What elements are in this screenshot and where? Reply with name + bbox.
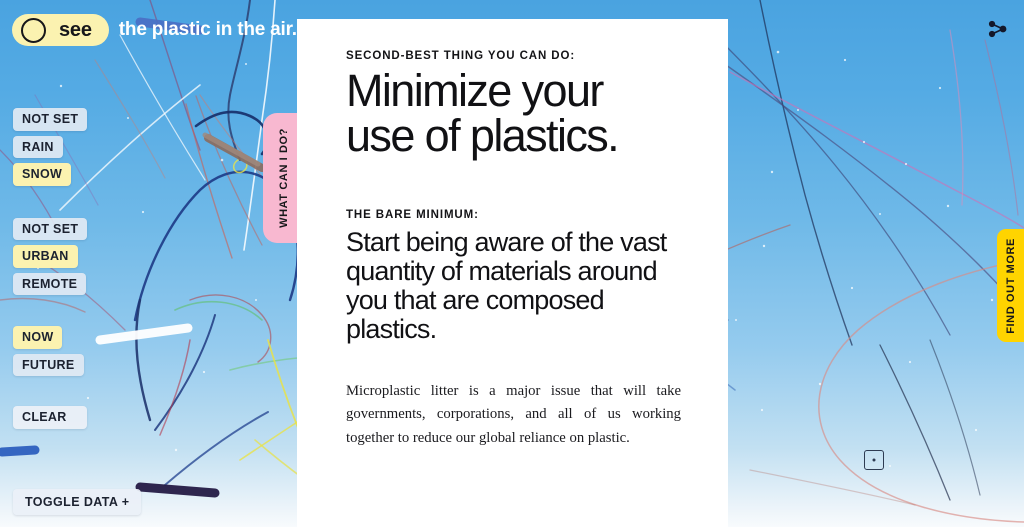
card-headline: Minimize your use of plastics. <box>346 69 681 158</box>
map-point-marker-icon[interactable] <box>864 450 884 470</box>
filter-location-urban[interactable]: URBAN <box>13 245 78 268</box>
group-spacer <box>13 300 87 326</box>
filter-location-remote[interactable]: REMOTE <box>13 273 86 296</box>
circle-outline-icon <box>21 18 46 43</box>
visualization-app: see the plastic in the air. NOT SET RAIN… <box>0 0 1024 527</box>
weather-filter-group: NOT SET RAIN SNOW <box>13 108 87 191</box>
find-out-more-tab[interactable]: FIND OUT MORE <box>997 229 1024 342</box>
control-panel: NOT SET RAIN SNOW NOT SET URBAN REMOTE N… <box>13 108 87 434</box>
tagline: the plastic in the air. <box>119 19 297 41</box>
filter-weather-not-set[interactable]: NOT SET <box>13 108 87 131</box>
filter-time-now[interactable]: NOW <box>13 326 62 349</box>
share-icon[interactable] <box>984 16 1010 42</box>
eyebrow-second-best: SECOND-BEST THING YOU CAN DO: <box>346 50 681 62</box>
card-subhead: Start being aware of the vast quantity o… <box>346 228 681 344</box>
filter-location-not-set[interactable]: NOT SET <box>13 218 87 241</box>
clear-button[interactable]: CLEAR <box>13 406 87 429</box>
location-filter-group: NOT SET URBAN REMOTE <box>13 218 87 301</box>
filter-weather-rain[interactable]: RAIN <box>13 136 63 159</box>
filter-weather-snow[interactable]: SNOW <box>13 163 71 186</box>
filter-time-future[interactable]: FUTURE <box>13 354 84 377</box>
toggle-data-button[interactable]: TOGGLE DATA + <box>13 489 141 516</box>
time-filter-group: NOW FUTURE <box>13 326 87 381</box>
info-card: SECOND-BEST THING YOU CAN DO: Minimize y… <box>297 19 728 527</box>
logo-word: see <box>59 20 92 40</box>
card-body-paragraph: Microplastic litter is a major issue tha… <box>346 380 681 451</box>
what-can-i-do-tab-label: WHAT CAN I DO? <box>278 128 290 228</box>
app-header: see the plastic in the air. <box>12 14 297 46</box>
group-spacer <box>13 381 87 406</box>
eyebrow-bare-minimum: THE BARE MINIMUM: <box>346 209 681 221</box>
group-spacer <box>13 191 87 218</box>
logo-pill[interactable]: see <box>12 14 109 46</box>
find-out-more-tab-label: FIND OUT MORE <box>1005 238 1017 334</box>
